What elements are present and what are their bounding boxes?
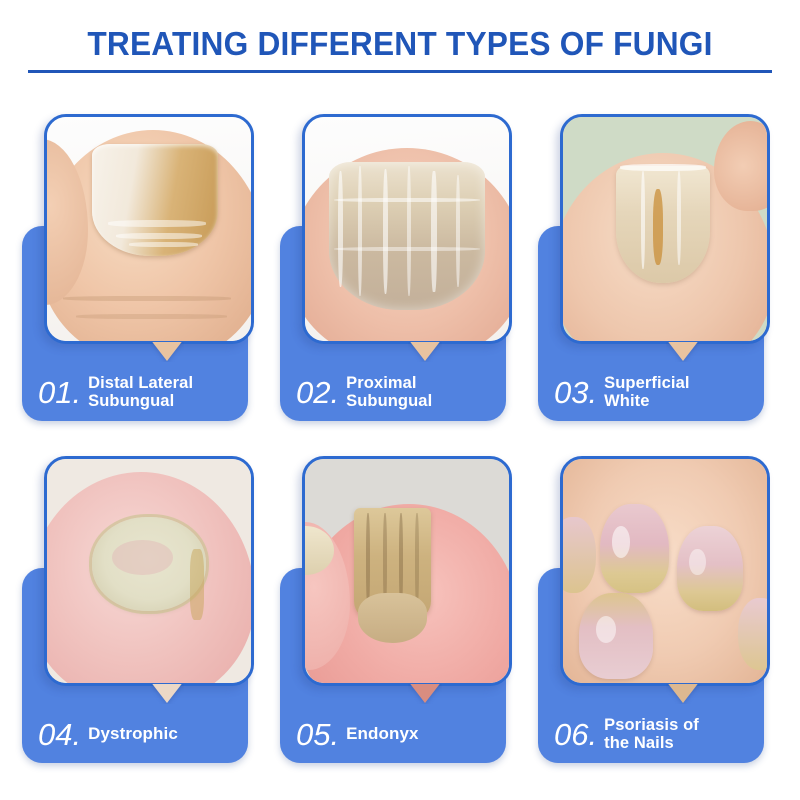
page-title: TREATING DIFFERENT TYPES OF FUNGI bbox=[16, 24, 784, 64]
card-03-caption: 03. Superficial White bbox=[548, 364, 764, 420]
card-04-image bbox=[47, 459, 251, 683]
card-05-label: Endonyx bbox=[346, 725, 419, 743]
card-05-photo bbox=[302, 456, 512, 686]
card-02-label-line2: Subungual bbox=[346, 392, 432, 410]
card-05-caption: 05. Endonyx bbox=[290, 706, 506, 762]
card-03-label-line1: Superficial bbox=[604, 374, 689, 392]
card-03-photo bbox=[560, 114, 770, 344]
card-01[interactable]: 01. Distal Lateral Subungual bbox=[22, 106, 254, 431]
card-01-image bbox=[47, 117, 251, 341]
card-03-number: 03. bbox=[554, 377, 597, 408]
card-06-number: 06. bbox=[554, 719, 597, 750]
card-06-caption: 06. Psoriasis of the Nails bbox=[548, 706, 764, 762]
card-02-number: 02. bbox=[296, 377, 339, 408]
card-06-label: Psoriasis of the Nails bbox=[604, 716, 699, 752]
card-01-label-line2: Subungual bbox=[88, 392, 174, 410]
card-03-image bbox=[563, 117, 767, 341]
card-01-caption: 01. Distal Lateral Subungual bbox=[32, 364, 248, 420]
card-06[interactable]: 06. Psoriasis of the Nails bbox=[538, 448, 770, 773]
card-02[interactable]: 02. Proximal Subungual bbox=[280, 106, 512, 431]
card-02-label-line1: Proximal bbox=[346, 374, 417, 392]
card-06-pointer bbox=[666, 684, 700, 704]
card-01-label-line1: Distal Lateral bbox=[88, 374, 193, 392]
infographic-page: TREATING DIFFERENT TYPES OF FUNGI bbox=[0, 0, 800, 800]
card-01-photo bbox=[44, 114, 254, 344]
card-01-label: Distal Lateral Subungual bbox=[88, 374, 193, 410]
card-05-image bbox=[305, 459, 509, 683]
card-06-image bbox=[563, 459, 767, 683]
card-04-label: Dystrophic bbox=[88, 725, 178, 743]
header: TREATING DIFFERENT TYPES OF FUNGI bbox=[0, 24, 800, 64]
card-05-number: 05. bbox=[296, 719, 339, 750]
card-06-photo bbox=[560, 456, 770, 686]
card-05-pointer bbox=[408, 684, 442, 704]
card-01-number: 01. bbox=[38, 377, 81, 408]
card-04-number: 04. bbox=[38, 719, 81, 750]
card-02-label: Proximal Subungual bbox=[346, 374, 432, 410]
card-02-photo bbox=[302, 114, 512, 344]
card-02-image bbox=[305, 117, 509, 341]
card-03-label-line2: White bbox=[604, 392, 649, 410]
card-01-pointer bbox=[150, 342, 184, 362]
card-03[interactable]: 03. Superficial White bbox=[538, 106, 770, 431]
card-02-pointer bbox=[408, 342, 442, 362]
card-02-caption: 02. Proximal Subungual bbox=[290, 364, 506, 420]
card-03-pointer bbox=[666, 342, 700, 362]
card-grid: 01. Distal Lateral Subungual bbox=[0, 100, 800, 800]
card-06-label-line1: Psoriasis of bbox=[604, 716, 699, 734]
title-underline bbox=[28, 70, 772, 73]
card-04[interactable]: 04. Dystrophic bbox=[22, 448, 254, 773]
card-05[interactable]: 05. Endonyx bbox=[280, 448, 512, 773]
card-04-photo bbox=[44, 456, 254, 686]
card-03-label: Superficial White bbox=[604, 374, 689, 410]
card-04-pointer bbox=[150, 684, 184, 704]
card-06-label-line2: the Nails bbox=[604, 734, 674, 752]
card-04-caption: 04. Dystrophic bbox=[32, 706, 248, 762]
